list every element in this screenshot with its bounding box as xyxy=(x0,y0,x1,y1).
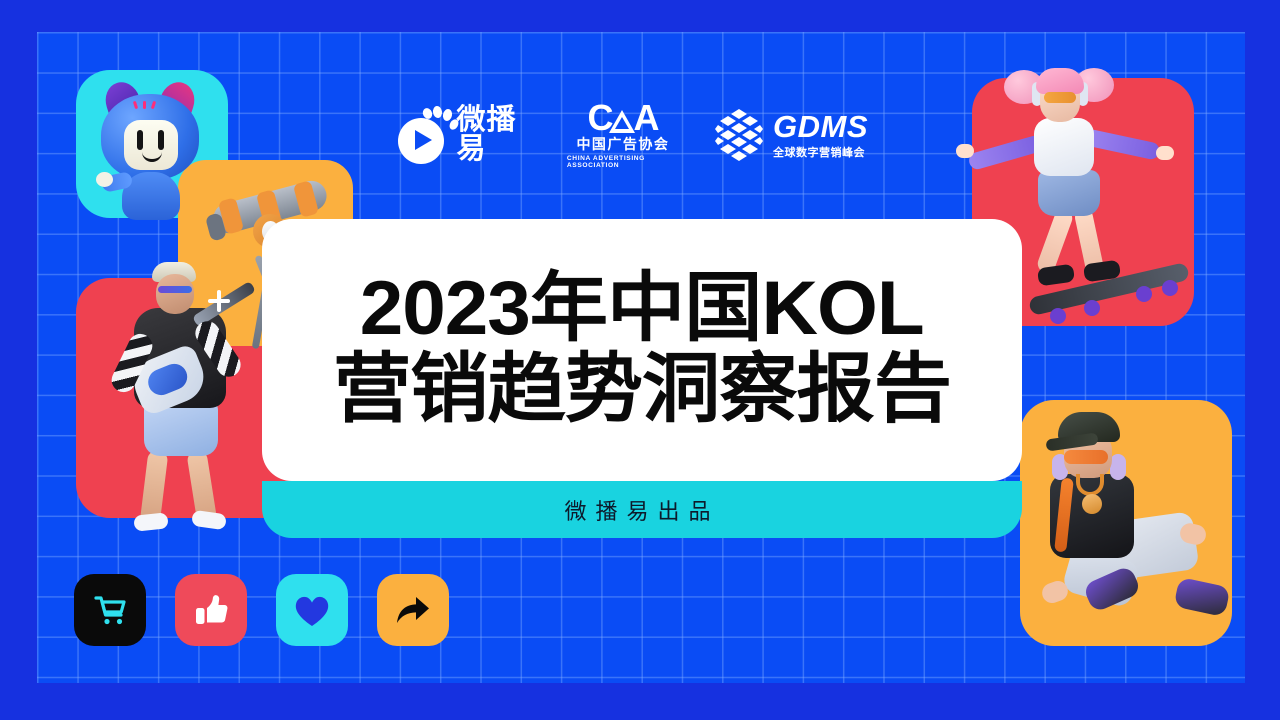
hiphop-dancer-figure xyxy=(1030,412,1248,652)
logo-caa-label-en: CHINA ADVERTISING ASSOCIATION xyxy=(567,155,679,169)
poster-stage: 微播易 CA 中国广告协会 CHINA ADVERTISING ASSOCIAT… xyxy=(0,0,1280,720)
tile-heart[interactable] xyxy=(276,574,348,646)
thumbs-up-icon xyxy=(191,590,231,630)
heart-icon xyxy=(292,591,332,629)
guitarist-figure xyxy=(86,262,286,532)
logo-row: 微播易 CA 中国广告协会 CHINA ADVERTISING ASSOCIAT… xyxy=(398,98,868,172)
sparkle-icon xyxy=(208,290,230,312)
tile-shopping-cart[interactable] xyxy=(74,574,146,646)
logo-weiboyi-label: 微播易 xyxy=(457,106,532,164)
hexagon-mesh-icon xyxy=(714,107,764,163)
page-title-line-2: 营销趋势洞察报告 xyxy=(333,350,951,431)
play-circle-paw-icon xyxy=(398,106,447,164)
logo-caa-label-cn: 中国广告协会 xyxy=(576,137,669,152)
logo-gdms-label: GDMS xyxy=(773,111,868,142)
tile-share[interactable] xyxy=(377,574,449,646)
social-icon-tiles xyxy=(74,574,449,646)
skateboarder-figure xyxy=(996,58,1208,338)
caa-triangle-icon: CA xyxy=(587,101,658,135)
title-card: 2023年中国KOL 营销趋势洞察报告 xyxy=(262,219,1022,481)
share-arrow-icon xyxy=(393,592,433,628)
logo-weiboyi: 微播易 xyxy=(398,106,532,164)
subtitle-band: 微播易出品 xyxy=(262,481,1022,538)
tile-thumbs-up[interactable] xyxy=(175,574,247,646)
logo-gdms: GDMS 全球数字营销峰会 xyxy=(714,107,868,163)
logo-gdms-label-cn: 全球数字营销峰会 xyxy=(773,144,868,160)
subtitle-text: 微播易出品 xyxy=(564,494,719,526)
shopping-cart-icon xyxy=(90,590,130,630)
logo-caa: CA 中国广告协会 CHINA ADVERTISING ASSOCIATION xyxy=(568,101,678,169)
page-title-line-1: 2023年中国KOL xyxy=(360,269,924,350)
